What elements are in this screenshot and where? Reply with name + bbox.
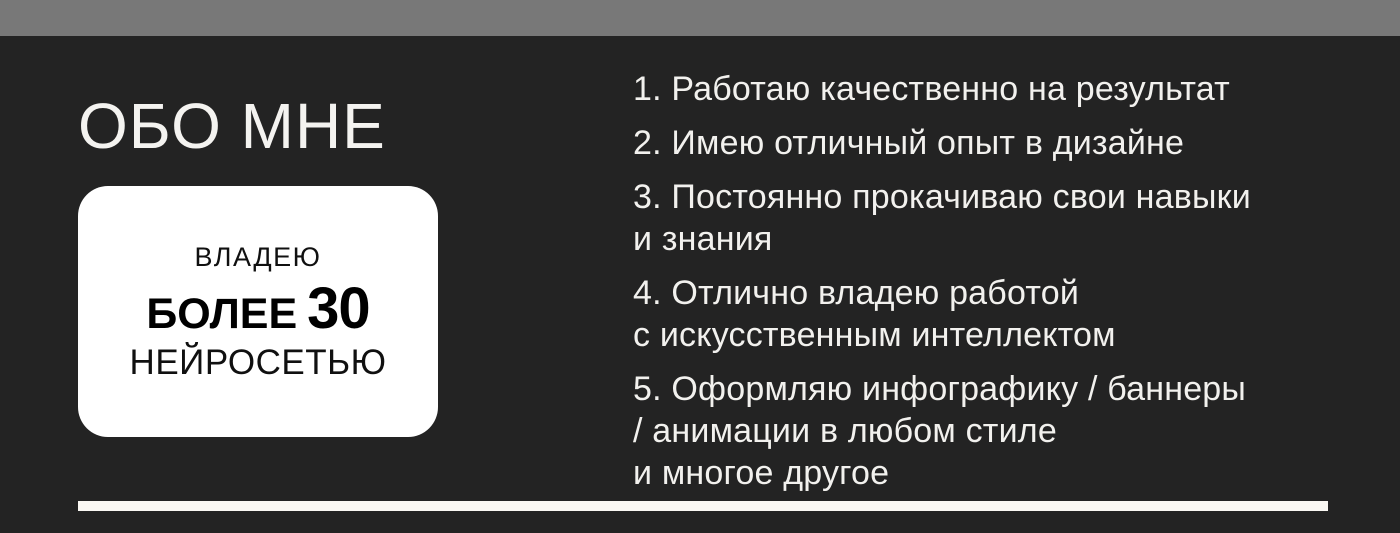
list-item-line: и знания (633, 218, 1363, 260)
badge-more-label: БОЛЕЕ (146, 290, 297, 338)
benefits-list: 1. Работаю качественно на результат 2. И… (633, 68, 1363, 506)
list-item: 5. Оформляю инфографику / баннеры / аним… (633, 368, 1363, 494)
top-gray-bar (0, 0, 1400, 36)
list-item-line: 2. Имею отличный опыт в дизайне (633, 122, 1363, 164)
list-item-line: 5. Оформляю инфографику / баннеры (633, 368, 1363, 410)
list-item-line: и многое другое (633, 452, 1363, 494)
left-column: ОБО МНЕ ВЛАДЕЮ БОЛЕЕ 30 НЕЙРОСЕТЬЮ (78, 36, 558, 533)
list-item-line: с искусственным интеллектом (633, 314, 1363, 356)
page-title: ОБО МНЕ (78, 94, 386, 158)
badge-line-more-count: БОЛЕЕ 30 (146, 280, 369, 338)
badge-line-networks: НЕЙРОСЕТЬЮ (130, 342, 387, 384)
list-item: 3. Постоянно прокачиваю свои навыки и зн… (633, 176, 1363, 260)
list-item-line: 3. Постоянно прокачиваю свои навыки (633, 176, 1363, 218)
list-item-line: / анимации в любом стиле (633, 410, 1363, 452)
bottom-divider-rule (78, 501, 1328, 511)
list-item-line: 1. Работаю качественно на результат (633, 68, 1363, 110)
list-item-line: 4. Отлично владею работой (633, 272, 1363, 314)
list-item: 4. Отлично владею работой с искусственны… (633, 272, 1363, 356)
badge-count-value: 30 (307, 280, 370, 338)
slide-canvas: ОБО МНЕ ВЛАДЕЮ БОЛЕЕ 30 НЕЙРОСЕТЬЮ 1. Ра… (0, 0, 1400, 533)
list-item: 1. Работаю качественно на результат (633, 68, 1363, 110)
skills-badge-card: ВЛАДЕЮ БОЛЕЕ 30 НЕЙРОСЕТЬЮ (78, 186, 438, 437)
badge-line-own: ВЛАДЕЮ (195, 240, 322, 274)
list-item: 2. Имею отличный опыт в дизайне (633, 122, 1363, 164)
